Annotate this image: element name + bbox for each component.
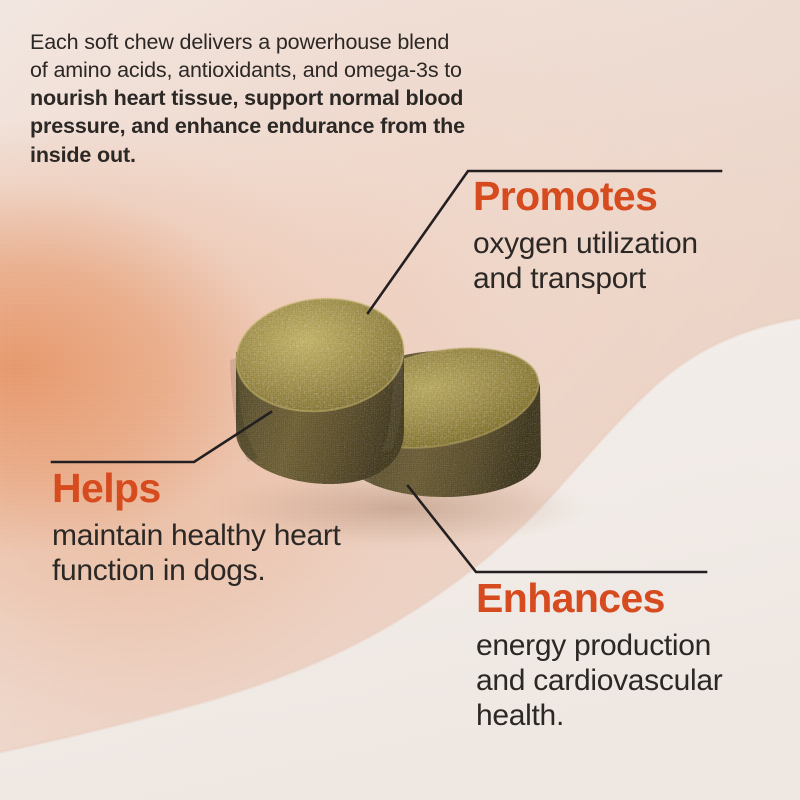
callout-enhances-detail-line-3: health. <box>476 699 564 732</box>
intro-line-2: of amino acids, antioxidants, and omega-… <box>30 58 462 82</box>
callout-enhances-kicker: Enhances <box>476 578 796 619</box>
callout-helps-detail: maintain healthy heart function in dogs. <box>52 518 442 588</box>
intro-line-1: Each soft chew delivers a powerhouse ble… <box>30 30 449 54</box>
callout-helps-kicker: Helps <box>52 468 442 509</box>
callout-promotes-detail: oxygen utilization and transport <box>473 226 793 296</box>
callout-promotes-detail-line-1: oxygen utilization <box>473 227 698 260</box>
leader-line-helps <box>52 412 271 462</box>
intro-bold-line-1: nourish heart tissue, support normal blo… <box>30 86 463 110</box>
callout-promotes: Promotes oxygen utilization and transpor… <box>473 176 793 296</box>
infographic-canvas: Each soft chew delivers a powerhouse ble… <box>0 0 800 800</box>
callout-enhances-detail: energy production and cardiovascular hea… <box>476 628 796 733</box>
callout-enhances-detail-line-1: energy production <box>476 629 711 662</box>
callout-helps: Helps maintain healthy heart function in… <box>52 468 442 588</box>
callout-promotes-kicker: Promotes <box>473 176 793 217</box>
callout-helps-detail-line-2: function in dogs. <box>52 554 265 587</box>
callout-enhances: Enhances energy production and cardiovas… <box>476 578 796 733</box>
callout-promotes-detail-line-2: and transport <box>473 262 646 295</box>
callout-helps-detail-line-1: maintain healthy heart <box>52 519 341 552</box>
intro-paragraph: Each soft chew delivers a powerhouse ble… <box>30 28 575 169</box>
leader-line-enhances <box>408 486 706 572</box>
callout-enhances-detail-line-2: and cardiovascular <box>476 664 722 697</box>
intro-bold-line-3: inside out. <box>30 143 136 167</box>
intro-bold-line-2: pressure, and enhance endurance from the <box>30 114 465 138</box>
